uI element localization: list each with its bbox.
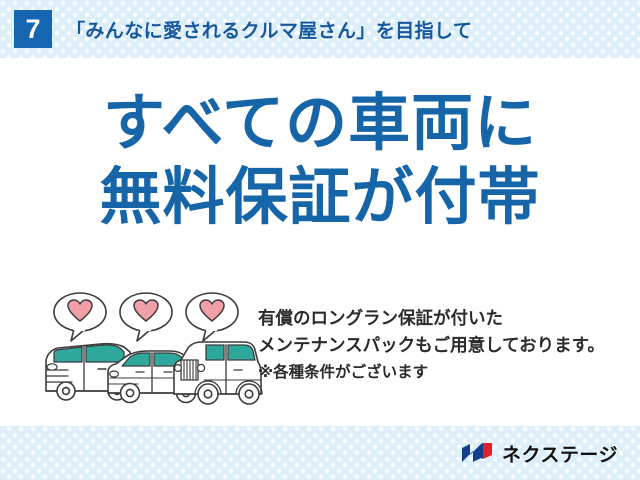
car-suv [174,342,262,404]
cars-illustration [38,290,268,410]
step-number-badge: 7 [14,10,52,48]
header-band: 7 「みんなに愛されるクルマ屋さん」を目指して [0,0,640,58]
brand-name: ネクステージ [502,440,618,467]
body-copy-note: ※各種条件がございます [258,360,628,384]
headline-line-1: すべての車両に [0,92,640,154]
footer: ネクステージ [0,426,640,480]
heart-bubble-3 [186,293,238,341]
heart-bubble-2 [120,293,172,341]
body-copy: 有償のロングラン保証が付いた メンテナンスパックもご用意しております。 ※各種条… [258,306,628,384]
body-copy-line-2: メンテナンスパックもご用意しております。 [258,333,628,360]
header-title: 「みんなに愛されるクルマ屋さん」を目指して [66,16,472,43]
body-copy-line-1: 有償のロングラン保証が付いた [258,306,628,333]
promo-slide: 7 「みんなに愛されるクルマ屋さん」を目指して すべての車両に 無料保証が付帯 [0,0,640,480]
content-panel: すべての車両に 無料保証が付帯 [0,58,640,426]
brand-logo: ネクステージ [461,440,618,467]
nexstage-n-icon [461,442,495,464]
headline: すべての車両に 無料保証が付帯 [0,92,640,228]
heart-bubble-1 [54,293,106,341]
headline-line-2: 無料保証が付帯 [0,166,640,228]
